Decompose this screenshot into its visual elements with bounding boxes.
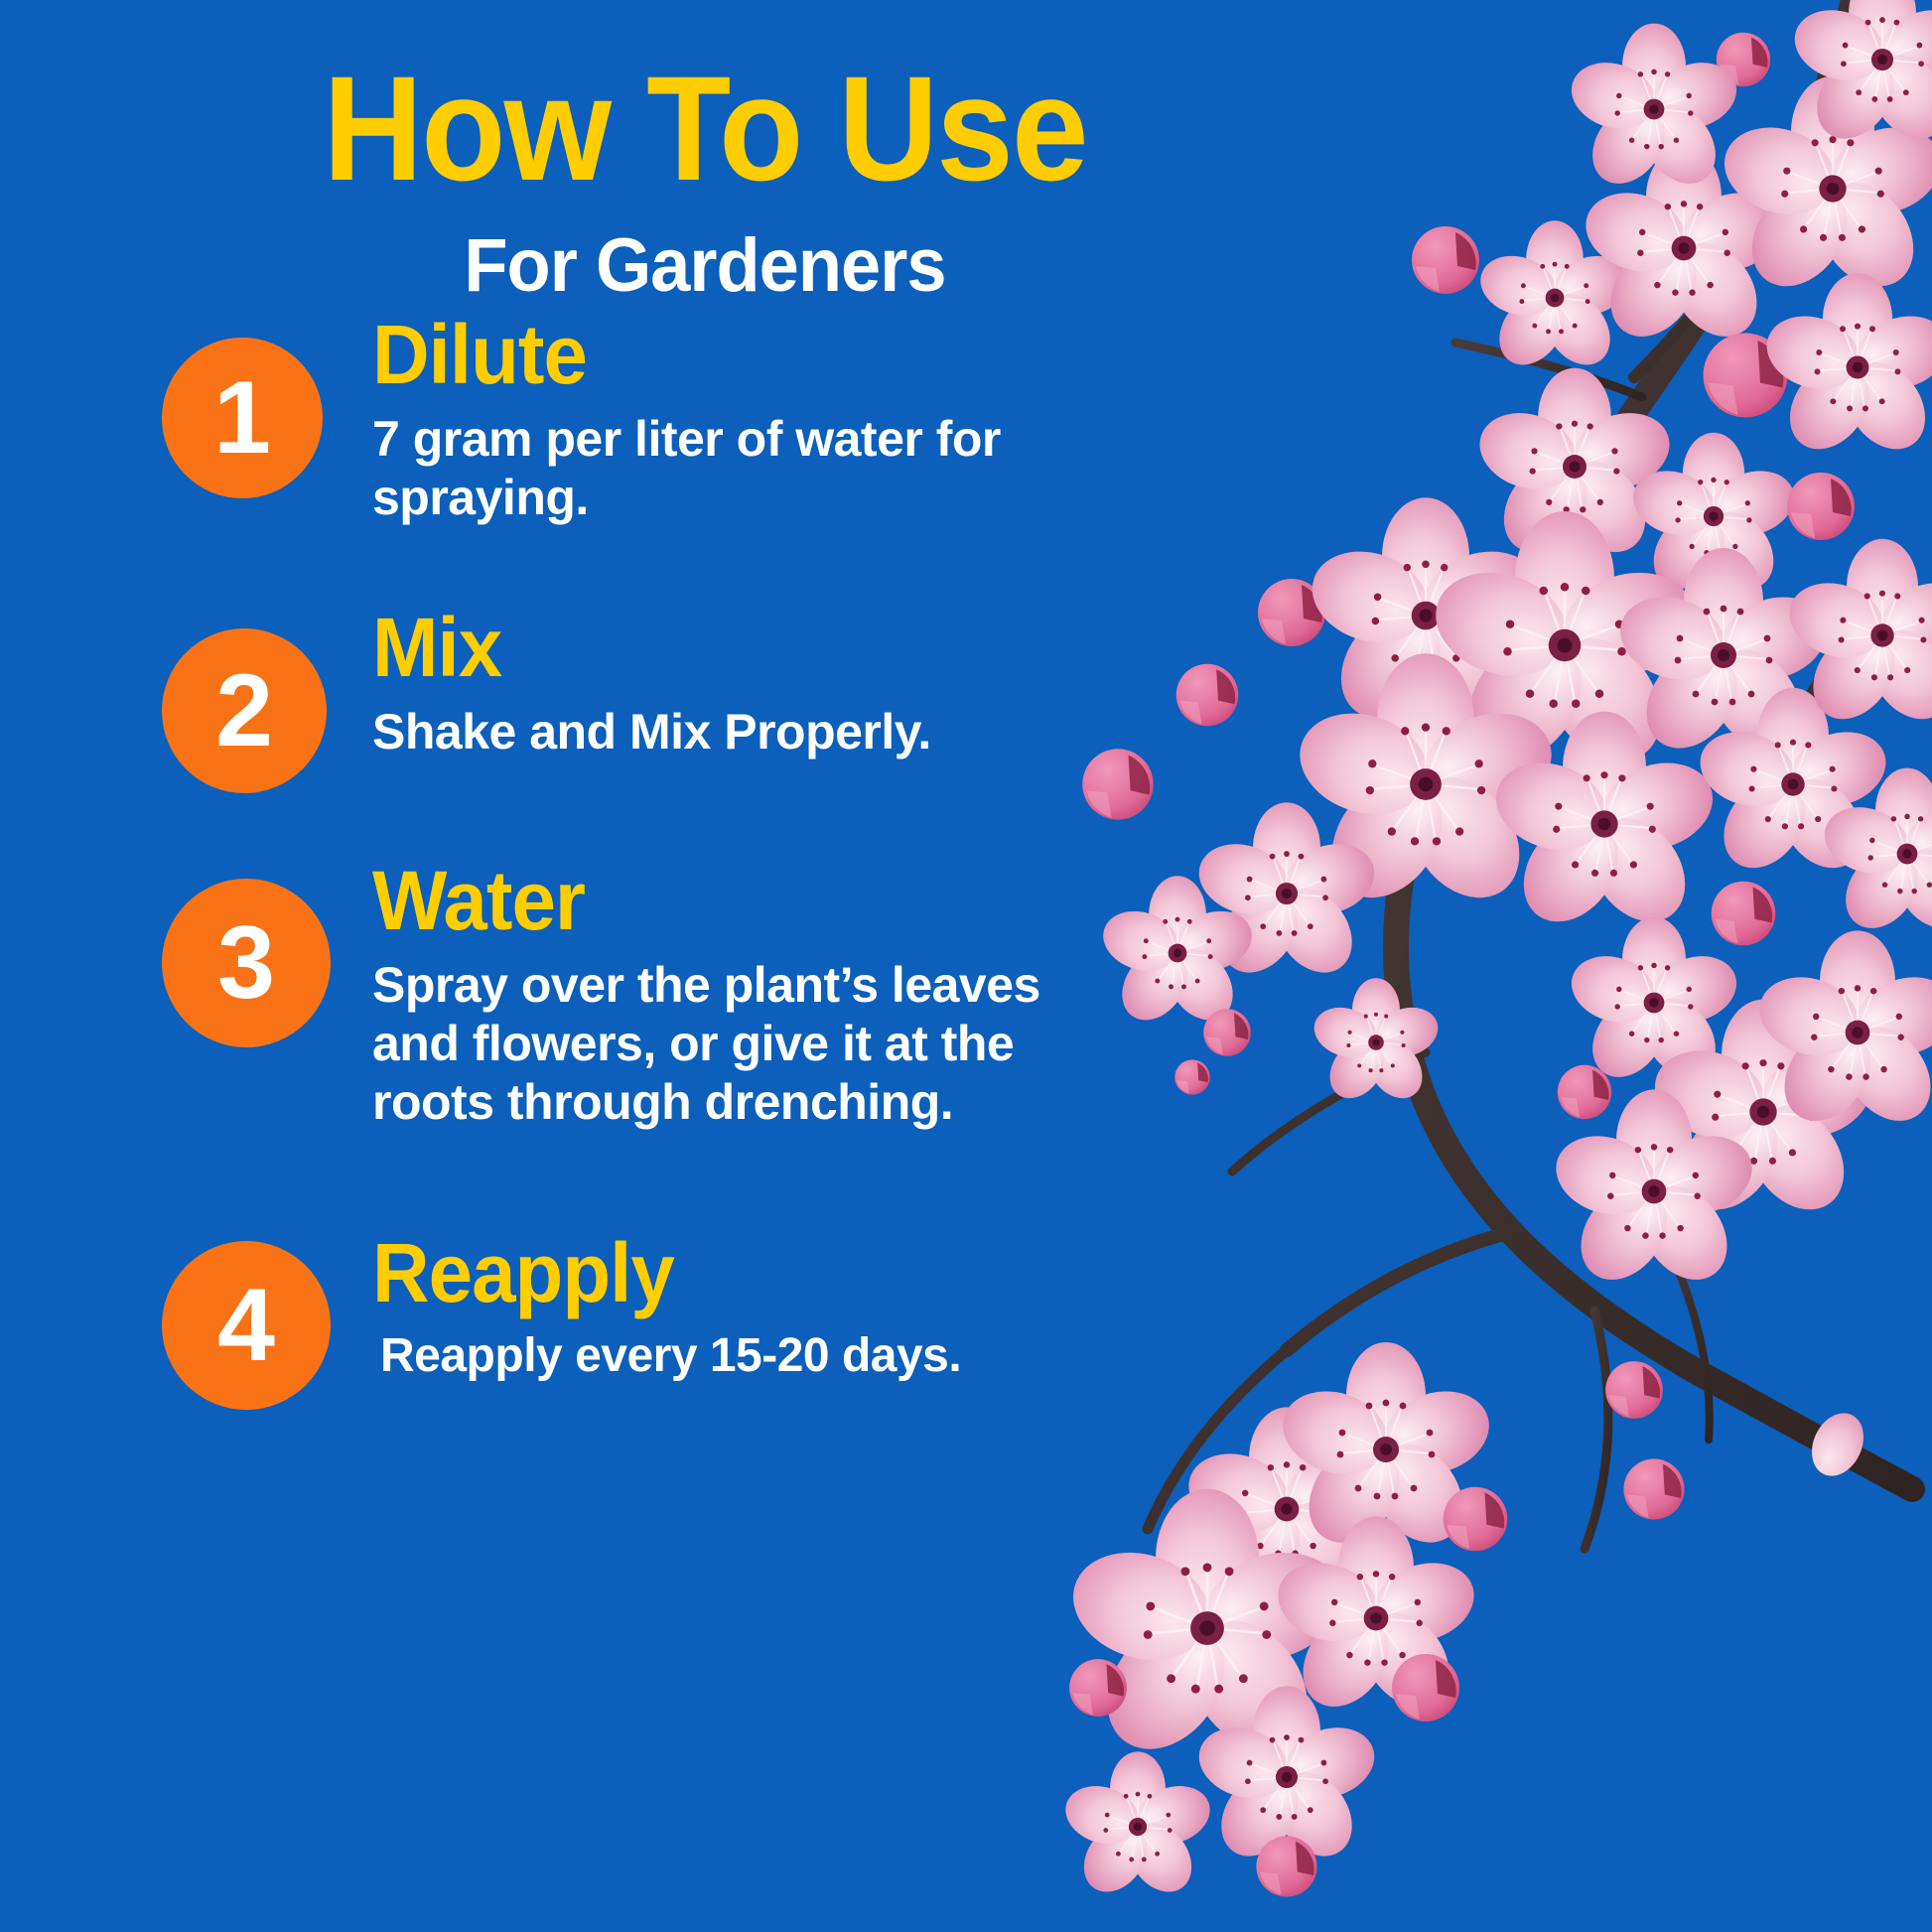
step-body-2: Mix Shake and Mix Properly.	[372, 606, 1067, 761]
step-heading-4: Reapply	[372, 1231, 1051, 1314]
step-number-badge-1: 1	[162, 338, 323, 498]
step-heading-1: Dilute	[372, 313, 1033, 396]
step-body-1: Dilute 7 gram per liter of water for spr…	[372, 313, 1067, 527]
step-description-2: Shake and Mix Properly.	[372, 703, 1067, 761]
step-description-3: Spray over the plant’s leaves and flower…	[372, 956, 1067, 1132]
step-heading-3: Water	[372, 859, 1033, 942]
step-heading-2: Mix	[372, 606, 1033, 689]
header: How To Use For Gardeners	[0, 48, 1410, 308]
page-title: How To Use	[50, 48, 1361, 208]
infographic-canvas: How To Use For Gardeners 1 Dilute 7 gram…	[0, 0, 1932, 1932]
page-subtitle: For Gardeners	[36, 224, 1375, 308]
step-body-4: Reapply Reapply every 15-20 days.	[372, 1231, 1087, 1385]
step-body-3: Water Spray over the plant’s leaves and …	[372, 859, 1067, 1132]
step-description-1: 7 gram per liter of water for spraying.	[372, 410, 1067, 527]
step-description-4: Reapply every 15-20 days.	[372, 1328, 1087, 1385]
step-number-badge-4: 4	[162, 1241, 331, 1410]
step-number-badge-3: 3	[162, 879, 331, 1047]
step-number-badge-2: 2	[162, 628, 327, 793]
